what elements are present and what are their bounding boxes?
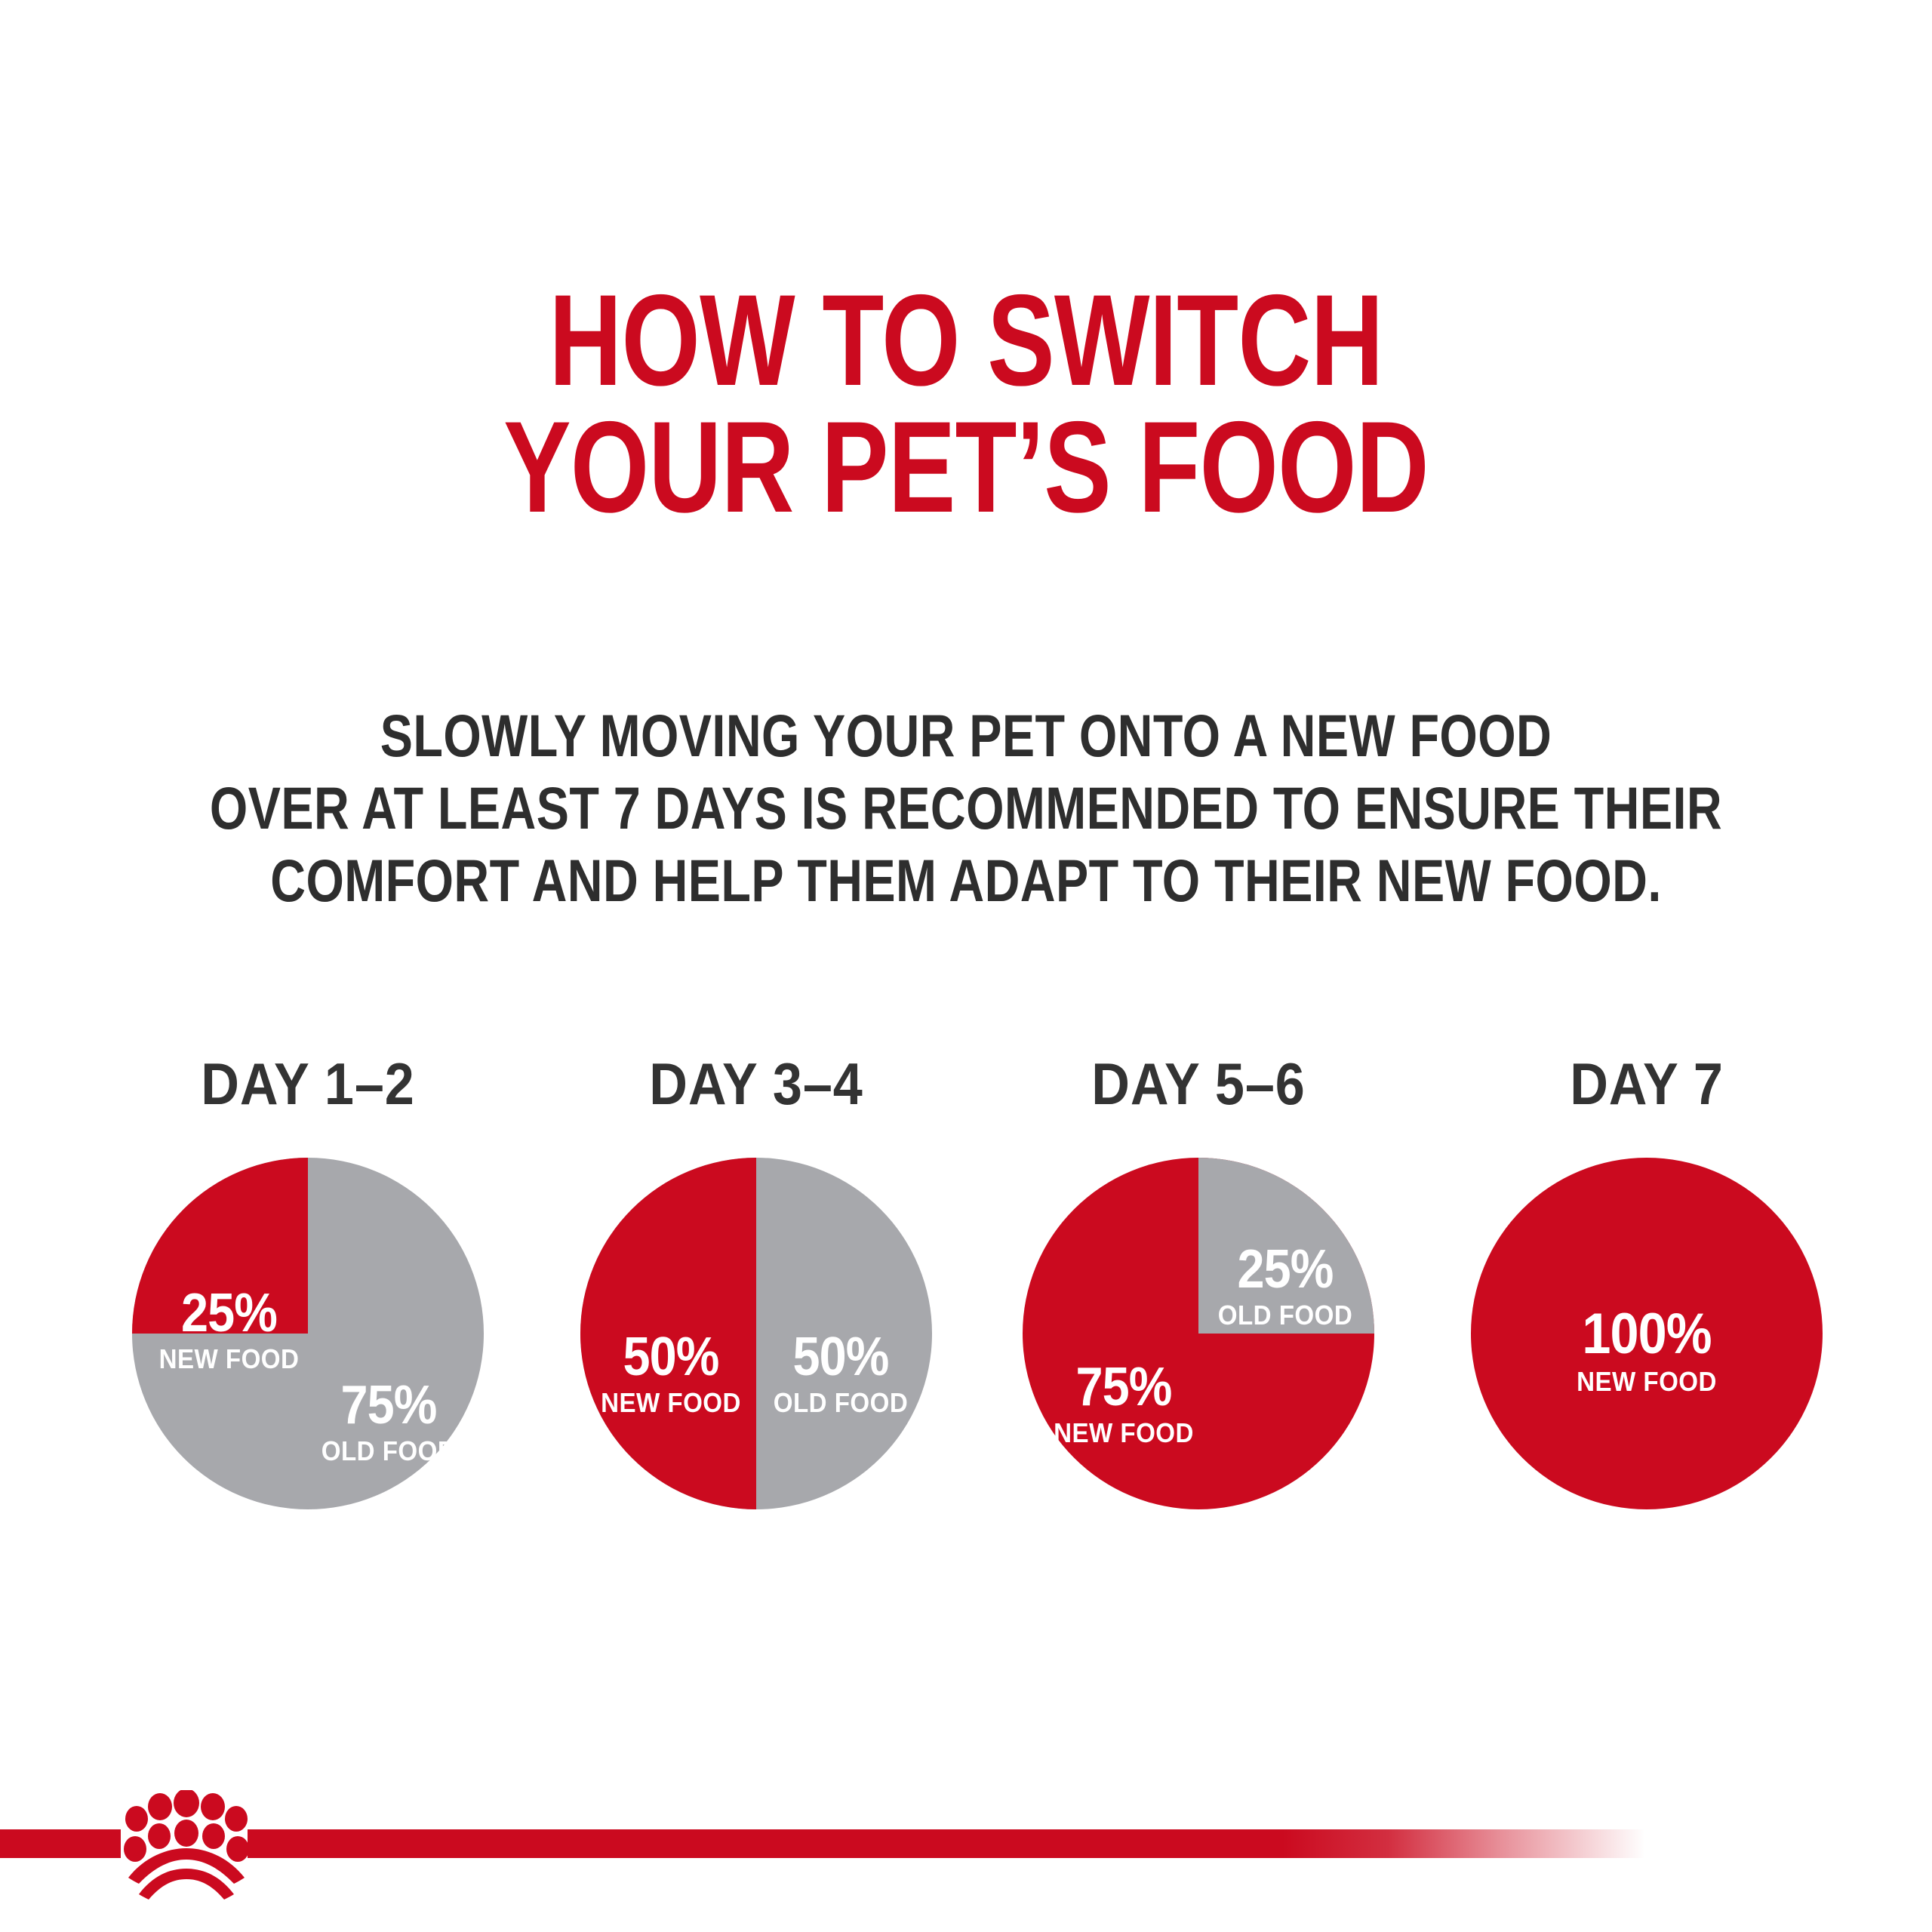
page-subtitle: SLOWLY MOVING YOUR PET ONTO A NEW FOOD O…	[174, 700, 1758, 917]
pie-svg-day-1-2	[132, 1158, 484, 1509]
page-subtitle-line-2: OVER AT LEAST 7 DAYS IS RECOMMENDED TO E…	[174, 772, 1758, 844]
pie-slice-new-food	[580, 1158, 756, 1509]
chart-label-day-3-4: DAY 3–4	[566, 1054, 946, 1114]
chart-label-day-5-6: DAY 5–6	[1008, 1054, 1389, 1114]
pie-slice-new-food	[132, 1158, 308, 1334]
pie-slice-new-food	[1471, 1158, 1823, 1509]
pie-chart-day-7: 100% NEW FOOD	[1471, 1158, 1823, 1509]
pie-svg-day-3-4	[580, 1158, 932, 1509]
page-title: HOW TO SWITCH YOUR PET’S FOOD	[213, 277, 1720, 531]
chart-group-day-5-6: DAY 5–6 25% OLD FOOD 75% NEW FOOD	[987, 1054, 1410, 1597]
chart-label-day-1-2: DAY 1–2	[118, 1054, 498, 1114]
pie-chart-day-1-2: 25% NEW FOOD 75% OLD FOOD	[132, 1158, 484, 1509]
chart-group-day-1-2: DAY 1–2 25% NEW FOOD 75% OLD FOOD	[97, 1054, 519, 1597]
crown-icon	[122, 1790, 251, 1905]
chart-group-day-3-4: DAY 3–4 50% NEW FOOD 50% OLD FOOD	[545, 1054, 968, 1597]
pie-svg-day-5-6	[1023, 1158, 1374, 1509]
page-title-line-2: YOUR PET’S FOOD	[213, 404, 1720, 531]
chart-group-day-7: DAY 7 100% NEW FOOD	[1435, 1054, 1858, 1597]
royal-canin-crown-logo	[122, 1790, 251, 1905]
infographic-page: HOW TO SWITCH YOUR PET’S FOOD SLOWLY MOV…	[0, 0, 1932, 1932]
transition-schedule-charts: DAY 1–2 25% NEW FOOD 75% OLD FOOD DAY 3–…	[0, 1054, 1932, 1597]
chart-label-day-7: DAY 7	[1457, 1054, 1837, 1114]
page-subtitle-line-3: COMFORT AND HELP THEM ADAPT TO THEIR NEW…	[174, 844, 1758, 917]
pie-chart-day-3-4: 50% NEW FOOD 50% OLD FOOD	[580, 1158, 932, 1509]
page-subtitle-line-1: SLOWLY MOVING YOUR PET ONTO A NEW FOOD	[174, 700, 1758, 772]
page-title-line-1: HOW TO SWITCH	[213, 277, 1720, 404]
pie-chart-day-5-6: 25% OLD FOOD 75% NEW FOOD	[1023, 1158, 1374, 1509]
pie-svg-day-7	[1471, 1158, 1823, 1509]
pie-slice-old-food	[1198, 1158, 1374, 1334]
